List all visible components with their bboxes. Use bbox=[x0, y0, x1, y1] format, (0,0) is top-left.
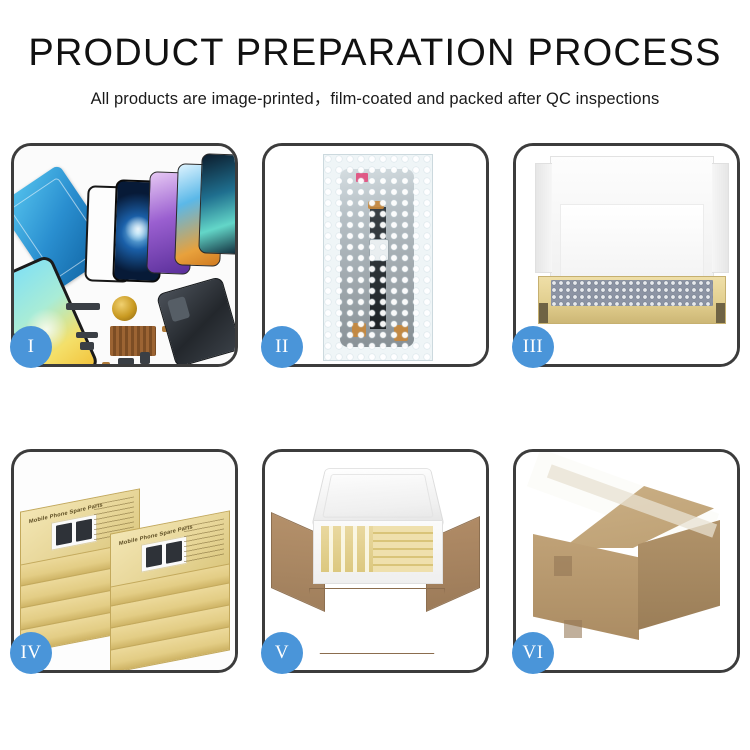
box-divider bbox=[353, 526, 357, 572]
box-artwork-thumbnails bbox=[51, 514, 97, 551]
product-preparation-infographic: PRODUCT PREPARATION PROCESS All products… bbox=[0, 0, 750, 750]
header: PRODUCT PREPARATION PROCESS All products… bbox=[0, 0, 750, 109]
stacked-boxes-row bbox=[373, 526, 433, 572]
step-badge-3: III bbox=[512, 326, 554, 368]
part-icon bbox=[102, 362, 110, 364]
step-badge-6: VI bbox=[512, 632, 554, 674]
step-photo-6 bbox=[516, 452, 737, 670]
box-divider bbox=[365, 526, 369, 572]
step-badge-4: IV bbox=[10, 632, 52, 674]
step-photo-1 bbox=[14, 146, 235, 364]
product-thumb-icon bbox=[166, 541, 182, 564]
bubble-wrap-bag-icon bbox=[323, 154, 433, 361]
step-panel-4[interactable]: Mobile Phone Spare Parts Mobile Phone Sp… bbox=[11, 449, 238, 673]
page-title: PRODUCT PREPARATION PROCESS bbox=[0, 0, 750, 74]
tray-corner-icon bbox=[716, 303, 725, 323]
step-badge-1: I bbox=[10, 326, 52, 368]
step-badge-5: V bbox=[261, 632, 303, 674]
box-artwork-thumbnails bbox=[141, 536, 187, 573]
product-thumb-icon bbox=[146, 545, 162, 568]
box-divider bbox=[329, 526, 333, 572]
part-icon bbox=[76, 332, 98, 338]
step-panel-5[interactable]: V bbox=[262, 449, 489, 673]
product-thumb-icon bbox=[56, 523, 72, 546]
box-spec-lines bbox=[184, 519, 224, 565]
part-icon bbox=[80, 342, 94, 350]
step-panel-2[interactable]: II bbox=[262, 143, 489, 367]
bubble-wrap-icon bbox=[551, 280, 713, 306]
product-thumb-icon bbox=[76, 519, 92, 542]
foam-lid-icon bbox=[311, 468, 445, 526]
foam-sheet-icon bbox=[560, 204, 704, 278]
step-photo-3 bbox=[516, 146, 737, 364]
carton-body-icon bbox=[309, 588, 445, 654]
carton-flap-seam bbox=[554, 556, 572, 576]
bubble-texture bbox=[324, 155, 432, 360]
step-panel-6[interactable]: VI bbox=[513, 449, 740, 673]
process-steps-grid: I II bbox=[11, 143, 739, 673]
packed-boxes-icon bbox=[321, 526, 433, 572]
carton-flap-seam bbox=[564, 620, 582, 638]
kraft-tray-icon bbox=[538, 276, 726, 324]
step-photo-2 bbox=[265, 146, 486, 364]
part-icon bbox=[118, 358, 134, 364]
tray-corner-icon bbox=[539, 303, 548, 323]
step-badge-2: II bbox=[261, 326, 303, 368]
phone-housing-icon bbox=[156, 276, 235, 364]
part-icon bbox=[140, 352, 150, 364]
step-photo-4: Mobile Phone Spare Parts Mobile Phone Sp… bbox=[14, 452, 235, 670]
speaker-coil-icon bbox=[112, 296, 137, 321]
box-divider bbox=[341, 526, 345, 572]
page-subtitle: All products are image-printed，film-coat… bbox=[0, 74, 750, 109]
step-panel-1[interactable]: I bbox=[11, 143, 238, 367]
step-photo-5 bbox=[265, 452, 486, 670]
box-stack-icon: Mobile Phone Spare Parts Mobile Phone Sp… bbox=[16, 460, 235, 666]
step-panel-3[interactable]: III bbox=[513, 143, 740, 367]
carton-front-icon bbox=[533, 534, 639, 640]
part-icon bbox=[66, 303, 100, 310]
phone-display-icon bbox=[198, 153, 235, 254]
